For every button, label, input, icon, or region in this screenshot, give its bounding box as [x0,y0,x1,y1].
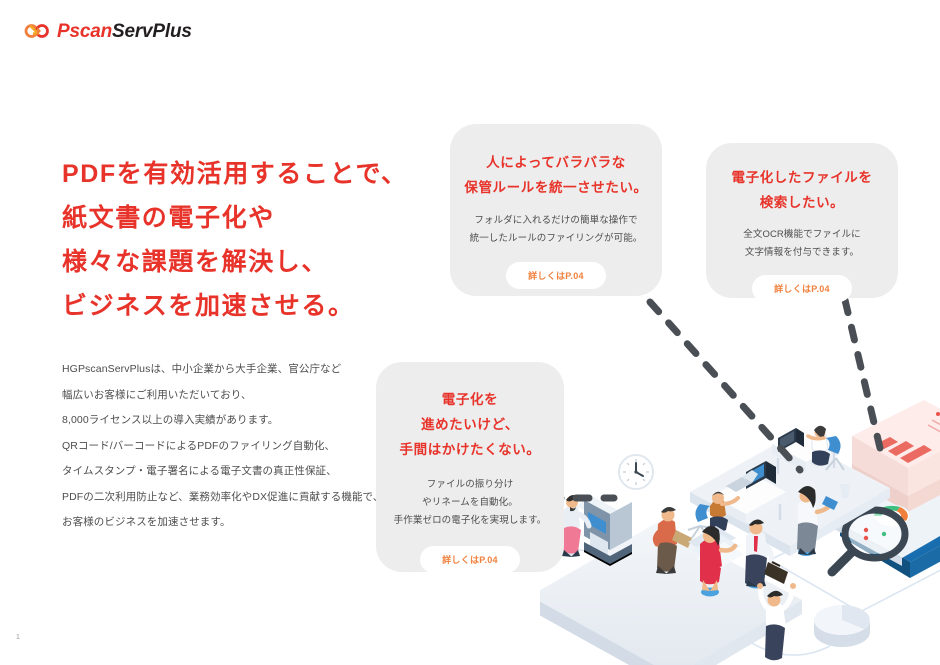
brand-wordmark: PscanServPlus [57,22,192,41]
card3-detail-button[interactable]: 詳しくはP.04 [420,546,520,573]
page-root: PscanServPlus [0,0,940,665]
card3-title-line-3: 手間はかけたくない。 [376,437,564,462]
issue-card-search-files[interactable]: 電子化したファイルを 検索したい。 全文OCR機能でファイルに 文字情報を付与で… [706,143,898,298]
loop-arrow-icon [24,20,50,42]
body-line-6: PDFの二次利用防止など、業務効率化やDX促進に貢献する機能で、 [62,485,392,511]
body-line-7: お客様のビジネスを加速させます。 [62,510,392,536]
brand-name-part2: Serv [112,21,152,42]
body-line-2: 幅広いお客様にご利用いただいており、 [62,383,392,409]
card1-title: 人によってバラバラな 保管ルールを統一させたい。 [450,150,662,200]
card3-title-line-2: 進めたいけど、 [376,412,564,437]
card2-description: 全文OCR機能でファイルに 文字情報を付与できます。 [706,226,898,262]
body-line-3: 8,000ライセンス以上の導入実績があります。 [62,408,392,434]
card1-desc-line-1: フォルダに入れるだけの簡単な操作で [450,212,662,230]
issue-card-storage-rules[interactable]: 人によってバラバラな 保管ルールを統一させたい。 フォルダに入れるだけの簡単な操… [450,124,662,296]
headline-line-2: 紙文書の電子化や [62,196,462,240]
headline-line-4: ビジネスを加速させる。 [62,284,462,328]
body-line-5: タイムスタンプ・電子署名による電子文書の真正性保証、 [62,459,392,485]
card2-title: 電子化したファイルを 検索したい。 [706,165,898,215]
body-line-1: HGPscanServPlusは、中小企業から大手企業、官公庁など [62,357,392,383]
headline-line-1: PDFを有効活用することで、 [62,152,462,196]
card3-description: ファイルの振り分け やリネームを自動化。 手作業ゼロの電子化を実現します。 [376,476,564,530]
headline-line-3: 様々な課題を解決し、 [62,240,462,284]
page-headline: PDFを有効活用することで、 紙文書の電子化や 様々な課題を解決し、 ビジネスを… [62,152,462,328]
card3-title-line-1: 電子化を [376,387,564,412]
card1-title-line-1: 人によってバラバラな [450,150,662,175]
body-line-4: QRコード/バーコードによるPDFのファイリング自動化、 [62,434,392,460]
card3-title: 電子化を 進めたいけど、 手間はかけたくない。 [376,387,564,462]
card1-title-line-2: 保管ルールを統一させたい。 [450,175,662,200]
card3-desc-line-3: 手作業ゼロの電子化を実現します。 [376,512,564,530]
card2-title-line-1: 電子化したファイルを [706,165,898,190]
issue-card-effortless-digitization[interactable]: 電子化を 進めたいけど、 手間はかけたくない。 ファイルの振り分け やリネームを… [376,362,564,572]
brand-logo[interactable]: PscanServPlus [24,20,192,42]
card1-description: フォルダに入れるだけの簡単な操作で 統一したルールのファイリングが可能。 [450,212,662,248]
card1-detail-button[interactable]: 詳しくはP.04 [506,262,606,289]
card3-desc-line-1: ファイルの振り分け [376,476,564,494]
card2-desc-line-1: 全文OCR機能でファイルに [706,226,898,244]
card1-desc-line-2: 統一したルールのファイリングが可能。 [450,230,662,248]
brand-name-part1: Pscan [57,21,112,42]
page-number: 1 [16,634,20,641]
card2-detail-button[interactable]: 詳しくはP.04 [752,275,852,302]
brand-name-part3: Plus [152,21,191,42]
card2-desc-line-2: 文字情報を付与できます。 [706,244,898,262]
intro-paragraph: HGPscanServPlusは、中小企業から大手企業、官公庁など 幅広いお客様… [62,357,392,536]
card3-desc-line-2: やリネームを自動化。 [376,494,564,512]
isometric-illustration [540,400,940,665]
card2-title-line-2: 検索したい。 [706,190,898,215]
